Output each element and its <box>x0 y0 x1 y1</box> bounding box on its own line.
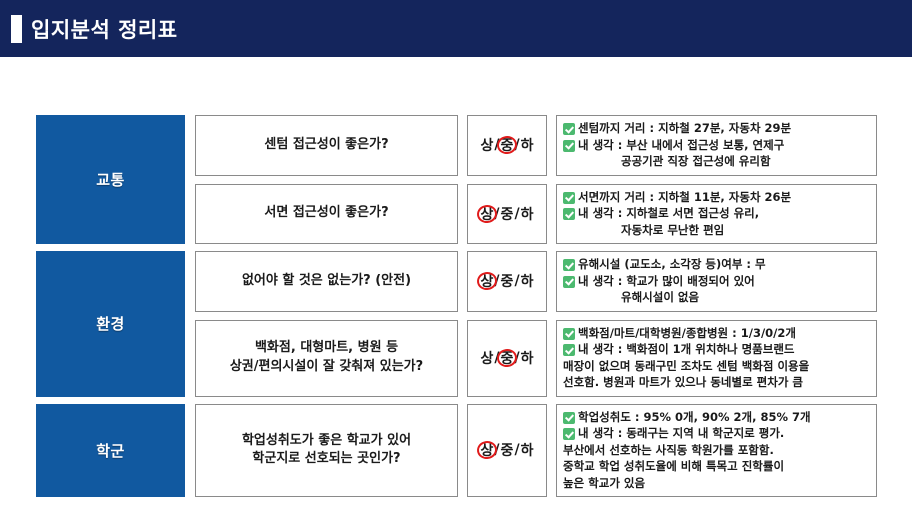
question-text: 없어야 할 것은 없는가? (안전) <box>242 272 411 291</box>
rating-cell[interactable]: 상/중/하 <box>467 115 547 176</box>
note-line: 자동차로 무난한 편임 <box>563 223 869 239</box>
note-text: 높은 학교가 있음 <box>563 476 645 492</box>
rating-option[interactable]: 상 <box>480 135 495 155</box>
rating-option[interactable]: 중 <box>500 440 515 460</box>
note-line: 학업성취도 : 95% 0개, 90% 2개, 85% 7개 <box>563 410 869 426</box>
rating-scale: 상/중/하 <box>480 440 535 460</box>
note-text: 내 생각 : 학교가 많이 배정되어 있어 <box>578 274 755 290</box>
rating-cell[interactable]: 상/중/하 <box>467 320 547 397</box>
rating-option[interactable]: 하 <box>520 135 535 155</box>
page-title: 입지분석 정리표 <box>31 14 178 44</box>
note-line: 공공기관 직장 접근성에 유리함 <box>563 154 869 170</box>
rating-scale: 상/중/하 <box>480 271 535 291</box>
note-text: 유해시설 (교도소, 소각장 등)여부 : 무 <box>578 257 766 273</box>
category-label: 교통 <box>96 169 125 190</box>
rating-cell[interactable]: 상/중/하 <box>467 404 547 498</box>
check-icon <box>563 208 575 220</box>
rating-option[interactable]: 하 <box>520 348 535 368</box>
rating-option-selected[interactable]: 상 <box>480 271 495 291</box>
category-block-교통: 교통 <box>36 115 185 244</box>
note-line: 높은 학교가 있음 <box>563 476 869 492</box>
note-text: 선호함. 병원과 마트가 있으나 동네별로 편차가 큼 <box>563 375 803 391</box>
check-icon <box>563 328 575 340</box>
note-line: 서면까지 거리 : 지하철 11분, 자동차 26분 <box>563 190 869 206</box>
rating-scale: 상/중/하 <box>480 348 535 368</box>
rating-option[interactable]: 하 <box>520 271 535 291</box>
note-text: 중학교 학업 성취도율에 비해 특목고 진학률이 <box>563 459 784 475</box>
note-line: 매장이 없으며 동래구민 조차도 센텀 백화점 이용을 <box>563 359 869 375</box>
note-line: 내 생각 : 지하철로 서면 접근성 유리, <box>563 206 869 222</box>
note-text: 내 생각 : 부산 내에서 접근성 보통, 연제구 <box>578 138 784 154</box>
notes-list: 센텀까지 거리 : 지하철 27분, 자동차 29분내 생각 : 부산 내에서 … <box>563 121 869 170</box>
note-text: 부산에서 선호하는 사직동 학원가를 포함함. <box>563 443 774 459</box>
question-text: 백화점, 대형마트, 병원 등상권/편의시설이 잘 갖춰져 있는가? <box>230 339 423 377</box>
note-text: 내 생각 : 지하철로 서면 접근성 유리, <box>578 206 759 222</box>
rating-scale: 상/중/하 <box>480 135 535 155</box>
category-group: 환경없어야 할 것은 없는가? (안전)상/중/하유해시설 (교도소, 소각장 … <box>36 251 877 397</box>
question-cell: 센텀 접근성이 좋은가? <box>195 115 458 176</box>
note-line: 내 생각 : 학교가 많이 배정되어 있어 <box>563 274 869 290</box>
notes-cell: 백화점/마트/대학병원/종합병원 : 1/3/0/2개내 생각 : 백화점이 1… <box>556 320 877 397</box>
rating-cell[interactable]: 상/중/하 <box>467 184 547 245</box>
note-text: 서면까지 거리 : 지하철 11분, 자동차 26분 <box>578 190 791 206</box>
category-label: 환경 <box>96 313 125 334</box>
note-line: 내 생각 : 동래구는 지역 내 학군지로 평가. <box>563 426 869 442</box>
category-block-환경: 환경 <box>36 251 185 397</box>
notes-list: 백화점/마트/대학병원/종합병원 : 1/3/0/2개내 생각 : 백화점이 1… <box>563 326 869 391</box>
check-icon <box>563 259 575 271</box>
note-text: 학업성취도 : 95% 0개, 90% 2개, 85% 7개 <box>578 410 811 426</box>
note-line: 센텀까지 거리 : 지하철 27분, 자동차 29분 <box>563 121 869 137</box>
category-rows: 센텀 접근성이 좋은가?상/중/하센텀까지 거리 : 지하철 27분, 자동차 … <box>195 115 877 244</box>
question-text: 센텀 접근성이 좋은가? <box>264 136 388 155</box>
check-icon <box>563 192 575 204</box>
check-icon <box>563 276 575 288</box>
table-row: 센텀 접근성이 좋은가?상/중/하센텀까지 거리 : 지하철 27분, 자동차 … <box>195 115 877 176</box>
check-icon <box>563 412 575 424</box>
note-text: 매장이 없으며 동래구민 조차도 센텀 백화점 이용을 <box>563 359 809 375</box>
note-line: 내 생각 : 부산 내에서 접근성 보통, 연제구 <box>563 138 869 154</box>
note-line: 중학교 학업 성취도율에 비해 특목고 진학률이 <box>563 459 869 475</box>
question-cell: 없어야 할 것은 없는가? (안전) <box>195 251 458 312</box>
rating-scale: 상/중/하 <box>480 204 535 224</box>
notes-cell: 학업성취도 : 95% 0개, 90% 2개, 85% 7개내 생각 : 동래구… <box>556 404 877 498</box>
table-row: 서면 접근성이 좋은가?상/중/하서면까지 거리 : 지하철 11분, 자동차 … <box>195 184 877 245</box>
page-header: 입지분석 정리표 <box>0 0 912 57</box>
rating-option[interactable]: 하 <box>520 440 535 460</box>
category-block-학군: 학군 <box>36 404 185 498</box>
header-accent-bar <box>11 15 22 43</box>
notes-cell: 센텀까지 거리 : 지하철 27분, 자동차 29분내 생각 : 부산 내에서 … <box>556 115 877 176</box>
rating-option[interactable]: 상 <box>480 348 495 368</box>
category-rows: 학업성취도가 좋은 학교가 있어학군지로 선호되는 곳인가?상/중/하학업성취도… <box>195 404 877 498</box>
table-row: 백화점, 대형마트, 병원 등상권/편의시설이 잘 갖춰져 있는가?상/중/하백… <box>195 320 877 397</box>
category-group: 교통센텀 접근성이 좋은가?상/중/하센텀까지 거리 : 지하철 27분, 자동… <box>36 115 877 244</box>
note-line: 유해시설 (교도소, 소각장 등)여부 : 무 <box>563 257 869 273</box>
note-line: 유해시설이 없음 <box>563 290 869 306</box>
note-line: 백화점/마트/대학병원/종합병원 : 1/3/0/2개 <box>563 326 869 342</box>
check-icon <box>563 344 575 356</box>
note-text: 유해시설이 없음 <box>621 290 699 306</box>
check-icon <box>563 140 575 152</box>
table-row: 없어야 할 것은 없는가? (안전)상/중/하유해시설 (교도소, 소각장 등)… <box>195 251 877 312</box>
check-icon <box>563 123 575 135</box>
category-group: 학군학업성취도가 좋은 학교가 있어학군지로 선호되는 곳인가?상/중/하학업성… <box>36 404 877 498</box>
rating-option[interactable]: 하 <box>520 204 535 224</box>
rating-option-selected[interactable]: 중 <box>500 135 515 155</box>
note-text: 센텀까지 거리 : 지하철 27분, 자동차 29분 <box>578 121 791 137</box>
analysis-table: 교통센텀 접근성이 좋은가?상/중/하센텀까지 거리 : 지하철 27분, 자동… <box>36 115 877 497</box>
notes-list: 유해시설 (교도소, 소각장 등)여부 : 무내 생각 : 학교가 많이 배정되… <box>563 257 869 306</box>
notes-list: 학업성취도 : 95% 0개, 90% 2개, 85% 7개내 생각 : 동래구… <box>563 410 869 492</box>
rating-option-selected[interactable]: 상 <box>480 204 495 224</box>
note-line: 부산에서 선호하는 사직동 학원가를 포함함. <box>563 443 869 459</box>
question-text: 학업성취도가 좋은 학교가 있어학군지로 선호되는 곳인가? <box>242 432 411 470</box>
question-cell: 서면 접근성이 좋은가? <box>195 184 458 245</box>
note-text: 백화점/마트/대학병원/종합병원 : 1/3/0/2개 <box>578 326 796 342</box>
note-line: 내 생각 : 백화점이 1개 위치하나 명품브랜드 <box>563 342 869 358</box>
note-text: 내 생각 : 백화점이 1개 위치하나 명품브랜드 <box>578 342 794 358</box>
rating-cell[interactable]: 상/중/하 <box>467 251 547 312</box>
note-text: 내 생각 : 동래구는 지역 내 학군지로 평가. <box>578 426 784 442</box>
question-cell: 백화점, 대형마트, 병원 등상권/편의시설이 잘 갖춰져 있는가? <box>195 320 458 397</box>
rating-option[interactable]: 중 <box>500 271 515 291</box>
rating-option-selected[interactable]: 중 <box>500 348 515 368</box>
notes-cell: 서면까지 거리 : 지하철 11분, 자동차 26분내 생각 : 지하철로 서면… <box>556 184 877 245</box>
check-icon <box>563 428 575 440</box>
question-cell: 학업성취도가 좋은 학교가 있어학군지로 선호되는 곳인가? <box>195 404 458 498</box>
table-row: 학업성취도가 좋은 학교가 있어학군지로 선호되는 곳인가?상/중/하학업성취도… <box>195 404 877 498</box>
note-line: 선호함. 병원과 마트가 있으나 동네별로 편차가 큼 <box>563 375 869 391</box>
category-rows: 없어야 할 것은 없는가? (안전)상/중/하유해시설 (교도소, 소각장 등)… <box>195 251 877 397</box>
category-label: 학군 <box>96 440 125 461</box>
question-text: 서면 접근성이 좋은가? <box>264 204 388 223</box>
rating-option-selected[interactable]: 상 <box>480 440 495 460</box>
notes-cell: 유해시설 (교도소, 소각장 등)여부 : 무내 생각 : 학교가 많이 배정되… <box>556 251 877 312</box>
note-text: 자동차로 무난한 편임 <box>621 223 724 239</box>
rating-option[interactable]: 중 <box>500 204 515 224</box>
notes-list: 서면까지 거리 : 지하철 11분, 자동차 26분내 생각 : 지하철로 서면… <box>563 190 869 239</box>
note-text: 공공기관 직장 접근성에 유리함 <box>621 154 771 170</box>
